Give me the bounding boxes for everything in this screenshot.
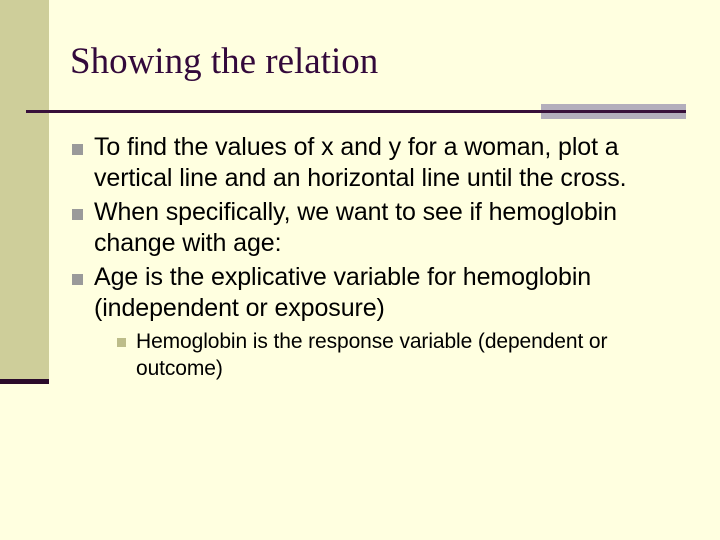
square-bullet-icon — [72, 274, 83, 285]
list-item: When specifically, we want to see if hem… — [72, 197, 684, 259]
slide-title: Showing the relation — [70, 40, 670, 84]
list-item: To find the values of x and y for a woma… — [72, 132, 684, 194]
list-item-label: Age is the explicative variable for hemo… — [94, 262, 684, 324]
list-item-label: To find the values of x and y for a woma… — [94, 132, 684, 194]
left-accent-band — [0, 0, 49, 379]
left-accent-band-cap — [0, 379, 49, 384]
square-bullet-icon — [72, 144, 83, 155]
list-item: Age is the explicative variable for hemo… — [72, 262, 684, 324]
list-item: Hemoglobin is the response variable (dep… — [117, 328, 684, 382]
square-bullet-icon — [117, 338, 126, 347]
list-item-label: When specifically, we want to see if hem… — [94, 197, 684, 259]
bullet-list: To find the values of x and y for a woma… — [72, 132, 684, 382]
square-bullet-icon — [72, 209, 83, 220]
header-rule-line — [26, 110, 686, 113]
list-item-label: Hemoglobin is the response variable (dep… — [136, 328, 684, 382]
slide-canvas: Showing the relation To find the values … — [0, 0, 720, 540]
